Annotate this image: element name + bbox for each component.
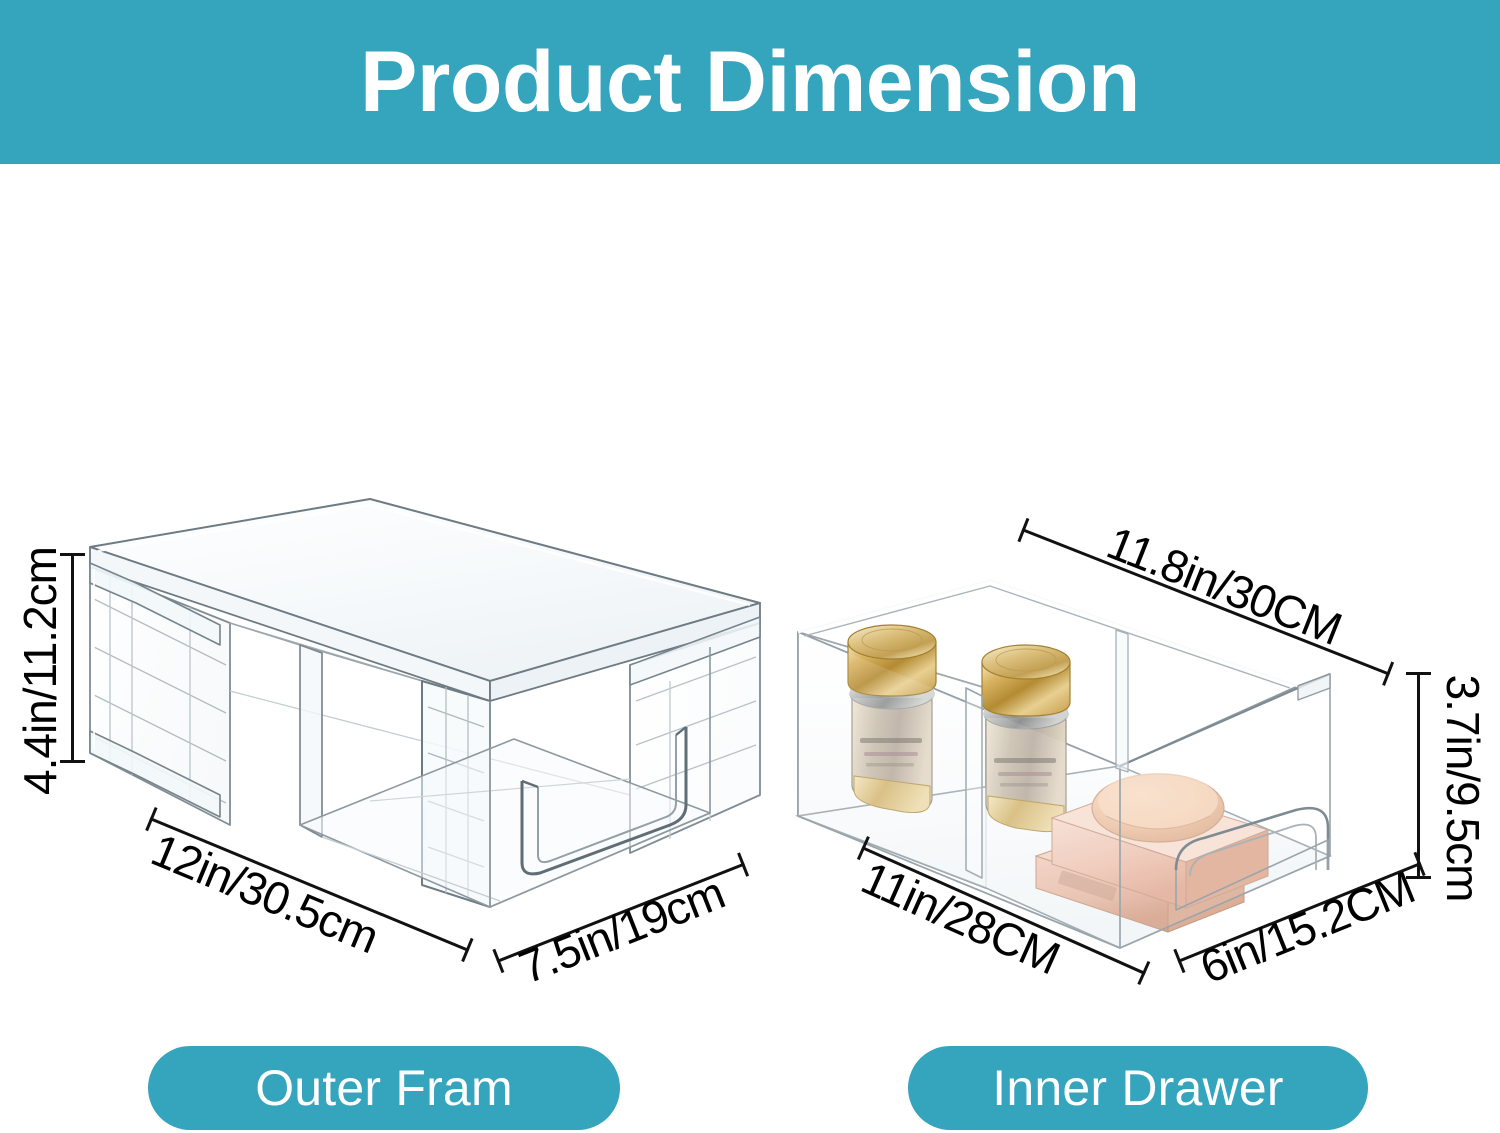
outer-height-dimension-line [71, 553, 74, 763]
header-banner: Product Dimension [0, 0, 1500, 164]
outer-frame-caption-pill[interactable]: Outer Fram [148, 1046, 620, 1130]
product-dimension-infographic: Product Dimension [0, 0, 1500, 1133]
page-title: Product Dimension [0, 0, 1500, 164]
outer-frame-caption-text: Outer Fram [255, 1059, 513, 1117]
inner-height-label: 3.7in/9.5cm [1440, 638, 1486, 938]
outer-height-label: 4.4in/11.2cm [17, 521, 63, 821]
inner-drawer-caption-pill[interactable]: Inner Drawer [908, 1046, 1368, 1130]
inner-height-dimension-line [1417, 672, 1420, 879]
inner-drawer-caption-text: Inner Drawer [992, 1059, 1283, 1117]
